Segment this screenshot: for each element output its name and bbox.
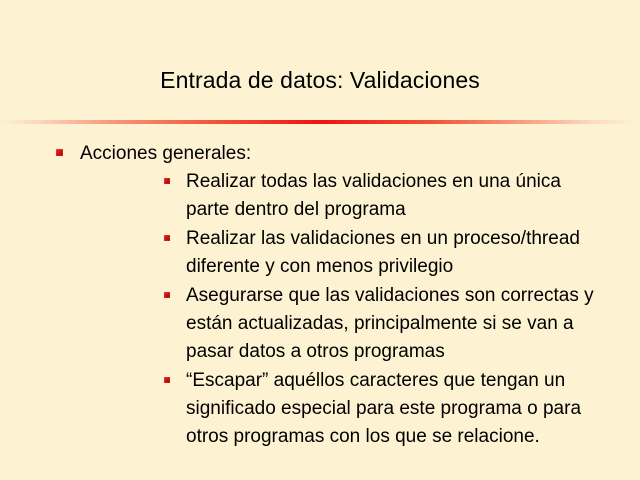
bullet-list-level1: Acciones generales: Realizar todas las v…	[0, 140, 640, 451]
presentation-slide: Entrada de datos: Validaciones Acciones …	[0, 0, 640, 480]
bullet-level1-label: Acciones generales:	[80, 140, 640, 168]
bullet-list-level2: Realizar todas las validaciones en una ú…	[80, 168, 640, 451]
square-bullet-icon	[164, 178, 170, 184]
square-bullet-icon	[56, 149, 63, 156]
bullet-level2-label: Realizar todas las validaciones en una ú…	[186, 168, 594, 224]
title-divider	[0, 120, 640, 124]
slide-body: Acciones generales: Realizar todas las v…	[0, 140, 640, 454]
bullet-item-level2: Asegurarse que las validaciones son corr…	[80, 282, 640, 366]
bullet-item-level2: Realizar las validaciones en un proceso/…	[80, 225, 640, 281]
bullet-item-level2: Realizar todas las validaciones en una ú…	[80, 168, 640, 224]
bullet-level2-label: Realizar las validaciones en un proceso/…	[186, 225, 594, 281]
square-bullet-icon	[164, 377, 170, 383]
bullet-level2-label: “Escapar” aquéllos caracteres que tengan…	[186, 367, 594, 451]
bullet-item-level1: Acciones generales: Realizar todas las v…	[0, 140, 640, 451]
bullet-item-level2: “Escapar” aquéllos caracteres que tengan…	[80, 367, 640, 451]
bullet-level2-label: Asegurarse que las validaciones son corr…	[186, 282, 594, 366]
square-bullet-icon	[164, 235, 170, 241]
square-bullet-icon	[164, 292, 170, 298]
slide-title: Entrada de datos: Validaciones	[0, 66, 640, 94]
